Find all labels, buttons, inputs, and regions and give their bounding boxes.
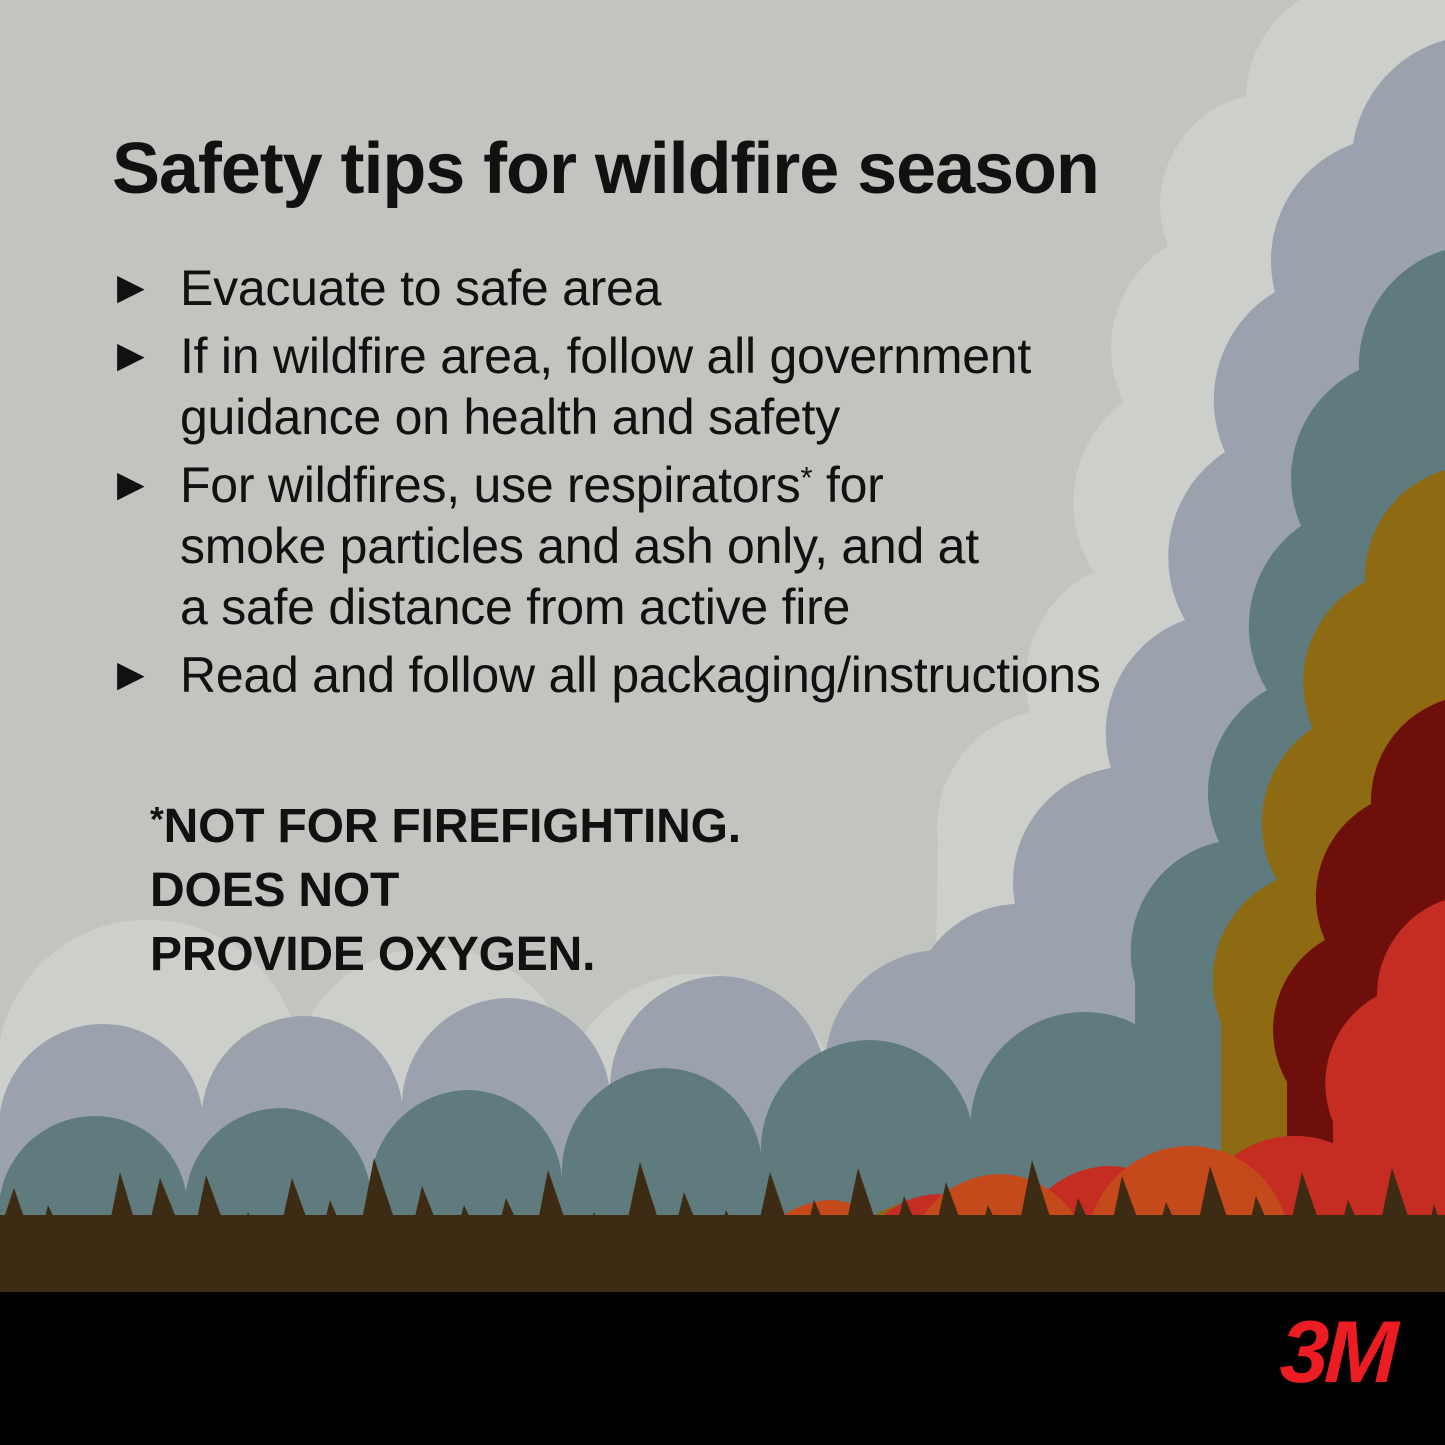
list-item-label: Evacuate to safe area [180, 258, 1292, 319]
brand-logo-3m: 3M [1278, 1308, 1395, 1396]
list-item-label: For wildfires, use respirators* for smok… [180, 455, 1292, 638]
list-item-label: Read and follow all packaging/instructio… [180, 645, 1292, 706]
triangle-bullet-icon: ▶ [117, 645, 144, 703]
disclaimer-asterisk: * [150, 799, 164, 839]
safety-tips-list: ▶ Evacuate to safe area ▶ If in wildfire… [112, 258, 1292, 713]
disclaimer-body: NOT FOR FIREFIGHTING. DOES NOT PROVIDE O… [150, 800, 741, 981]
footnote-asterisk: * [800, 460, 812, 495]
list-item-text-before: For wildfires, use respirators [180, 457, 800, 513]
triangle-bullet-icon: ▶ [117, 455, 144, 513]
wildfire-illustration [0, 0, 1445, 1445]
triangle-bullet-icon: ▶ [117, 326, 144, 384]
footer-bar: 3M [0, 1292, 1445, 1445]
triangle-bullet-icon: ▶ [117, 258, 144, 316]
list-item-label: If in wildfire area, follow all governme… [180, 326, 1292, 448]
list-item: ▶ If in wildfire area, follow all govern… [112, 326, 1292, 448]
disclaimer-text: *NOT FOR FIREFIGHTING. DOES NOT PROVIDE … [150, 795, 1050, 986]
list-item: ▶ Read and follow all packaging/instruct… [112, 645, 1292, 706]
page-title: Safety tips for wildfire season [112, 133, 1352, 205]
list-item: ▶ For wildfires, use respirators* for sm… [112, 455, 1292, 638]
wildfire-safety-poster: Safety tips for wildfire season ▶ Evacua… [0, 0, 1445, 1445]
list-item: ▶ Evacuate to safe area [112, 258, 1292, 319]
